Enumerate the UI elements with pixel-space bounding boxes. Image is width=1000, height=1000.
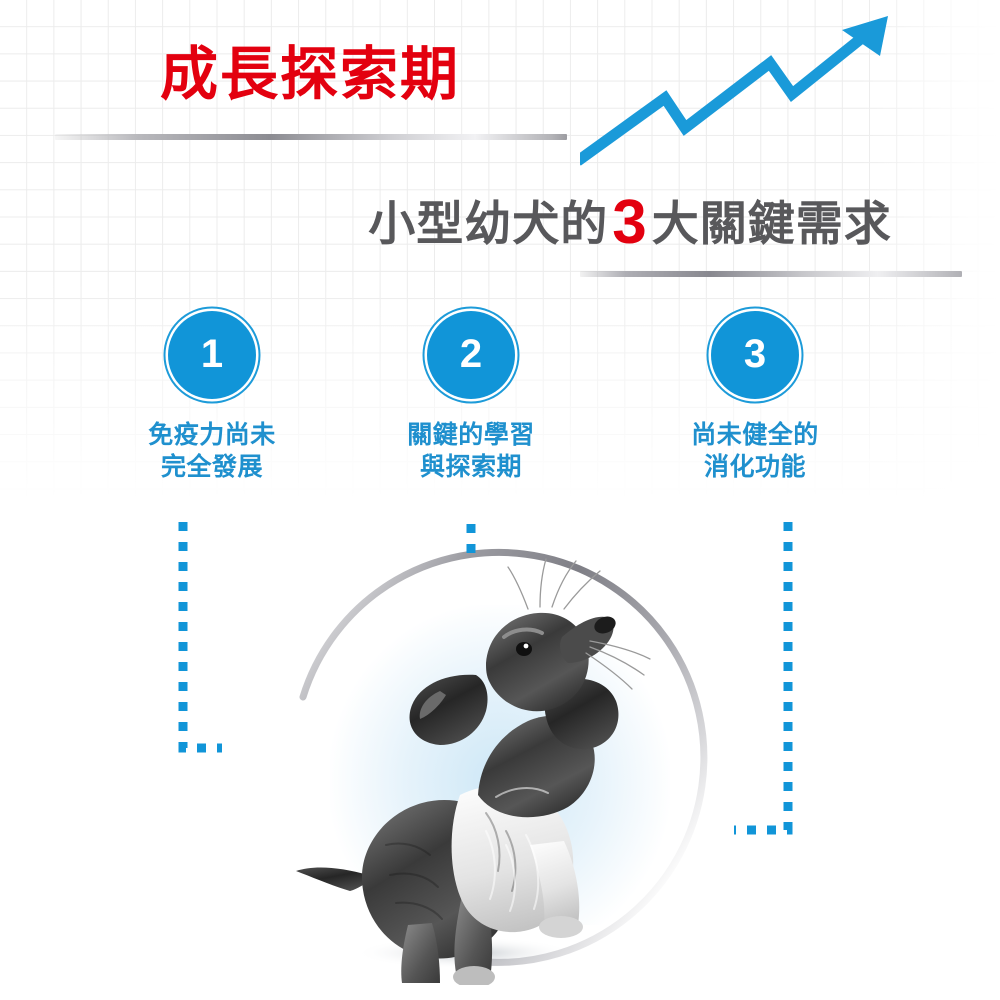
key-point-2[interactable]: 2 關鍵的學習 與探索期 bbox=[371, 311, 571, 483]
badge-number-1: 1 bbox=[168, 311, 256, 399]
key-point-1[interactable]: 1 免疫力尚未 完全發展 bbox=[112, 311, 312, 483]
key-point-label-3: 尚未健全的 消化功能 bbox=[655, 419, 855, 483]
badge-2[interactable]: 2 bbox=[427, 311, 515, 399]
infographic-canvas: 成長探索期 小型幼犬的3大關鍵需求 1 免疫力尚未 完全發展 2 關鍵的學習 與… bbox=[0, 0, 1000, 1000]
key-point-label-1: 免疫力尚未 完全發展 bbox=[112, 419, 312, 483]
badge-1[interactable]: 1 bbox=[168, 311, 256, 399]
key-points-group: 1 免疫力尚未 完全發展 2 關鍵的學習 與探索期 3 尚未健全的 消化功能 bbox=[0, 0, 1000, 1000]
badge-3[interactable]: 3 bbox=[711, 311, 799, 399]
badge-number-2: 2 bbox=[427, 311, 515, 399]
badge-number-3: 3 bbox=[711, 311, 799, 399]
key-point-3[interactable]: 3 尚未健全的 消化功能 bbox=[655, 311, 855, 483]
key-point-label-2: 關鍵的學習 與探索期 bbox=[371, 419, 571, 483]
